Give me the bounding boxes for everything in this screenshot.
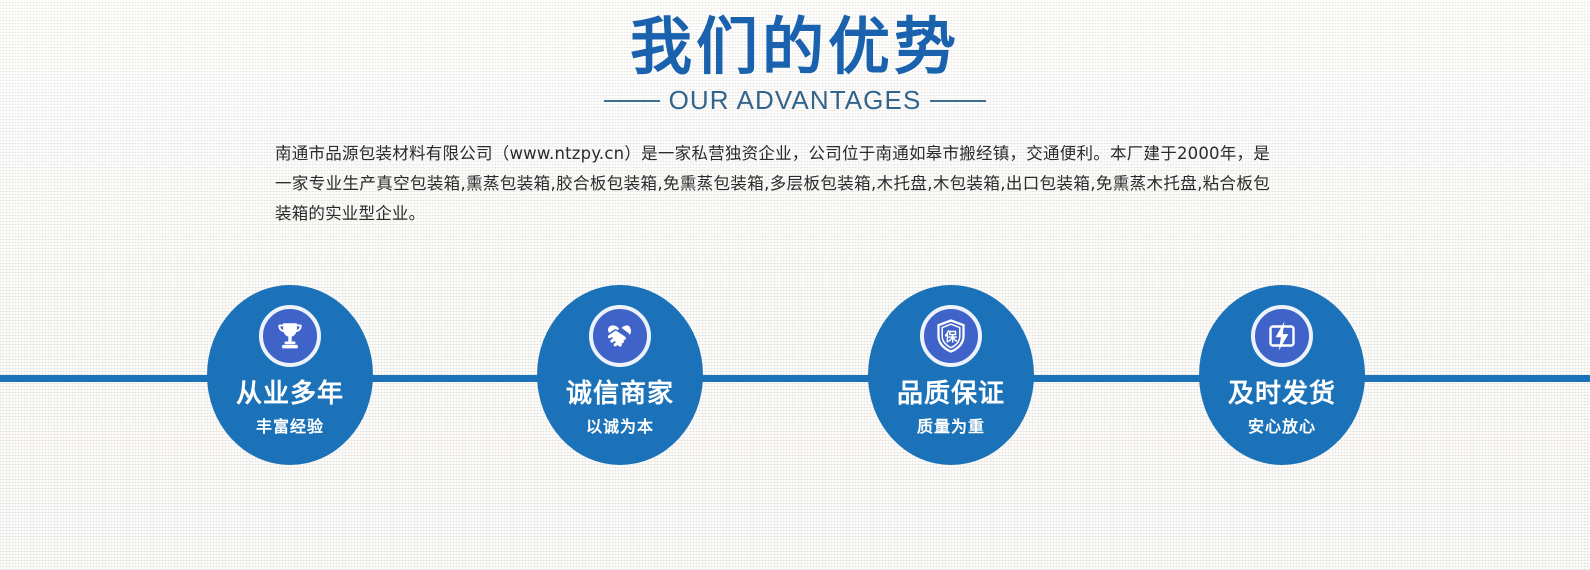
subtitle-rule-right: [930, 100, 986, 102]
advantage-badge-subtitle: 安心放心: [1199, 419, 1365, 435]
advantage-badge[interactable]: 保 品质保证 质量为重: [868, 285, 1034, 465]
advantage-badge-subtitle: 质量为重: [868, 419, 1034, 435]
advantage-badge-title: 品质保证: [868, 381, 1034, 407]
advantage-badge-title: 诚信商家: [537, 381, 703, 407]
advantage-badge-list: 从业多年 丰富经验 诚信商家 以诚为本: [0, 285, 1590, 475]
advantage-badge[interactable]: 及时发货 安心放心: [1199, 285, 1365, 465]
subtitle-rule-left: [604, 100, 660, 102]
advantage-badge-title: 及时发货: [1199, 381, 1365, 407]
trophy-icon: [259, 305, 321, 367]
advantages-section: 我们的优势 OUR ADVANTAGES 南通市品源包装材料有限公司（www.n…: [0, 0, 1590, 570]
advantage-badge[interactable]: 诚信商家 以诚为本: [537, 285, 703, 465]
company-intro-paragraph: 南通市品源包装材料有限公司（www.ntzpy.cn）是一家私营独资企业，公司位…: [275, 139, 1270, 229]
handshake-icon: [589, 305, 651, 367]
lightning-bolt-icon: [1251, 305, 1313, 367]
shield-glyph: 保: [944, 329, 958, 344]
shield-guarantee-icon: 保: [920, 305, 982, 367]
page-subtitle: OUR ADVANTAGES: [669, 85, 922, 116]
advantage-badge[interactable]: 从业多年 丰富经验: [207, 285, 373, 465]
section-header: 我们的优势 OUR ADVANTAGES: [0, 12, 1590, 116]
page-title: 我们的优势: [0, 12, 1590, 81]
advantage-badge-subtitle: 丰富经验: [207, 419, 373, 435]
advantage-badge-subtitle: 以诚为本: [537, 419, 703, 435]
subtitle-row: OUR ADVANTAGES: [0, 85, 1590, 116]
advantage-badge-title: 从业多年: [207, 381, 373, 407]
